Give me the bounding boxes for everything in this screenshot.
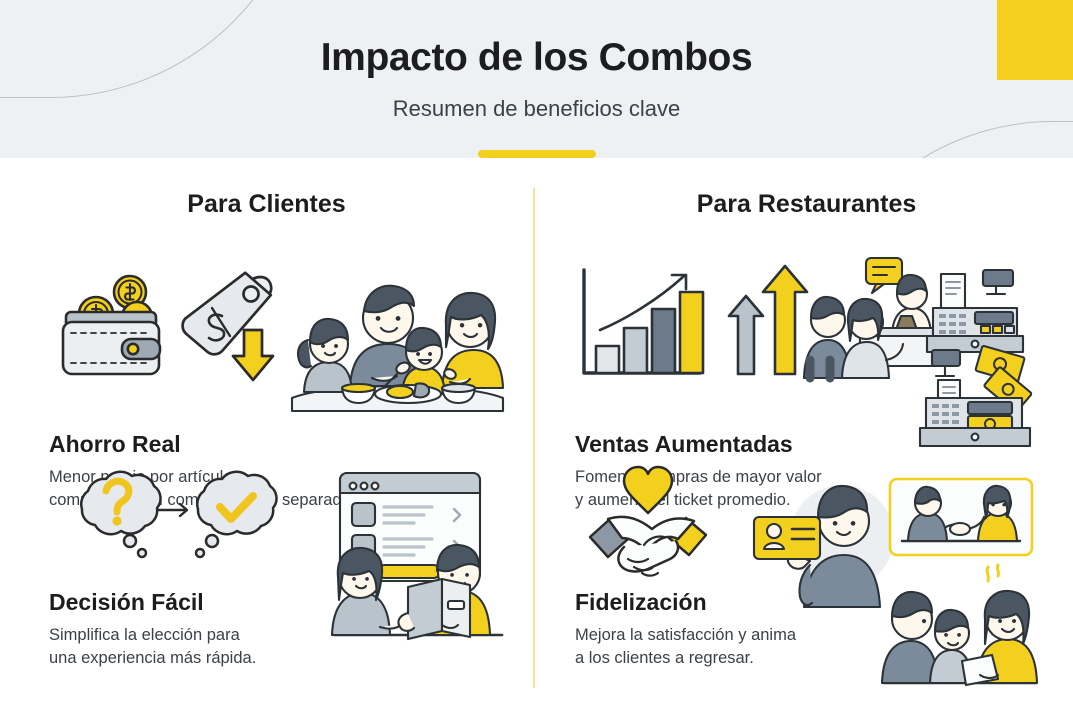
page-subtitle: Resumen de beneficios clave — [0, 96, 1073, 122]
handshake-frame-illustration — [888, 477, 1038, 559]
benefit-title-ventas-aumentadas: Ventas Aumentadas — [575, 431, 793, 458]
column-clientes: Para Clientes — [0, 158, 533, 720]
up-arrows-icon — [723, 260, 808, 380]
benefit-block-decision-facil: Decisión Fácil Simplifica la elección pa… — [0, 463, 533, 703]
column-heading-clientes: Para Clientes — [0, 190, 533, 219]
column-restaurantes: Para Restaurantes — [540, 158, 1073, 720]
page-title: Impacto de los Combos — [0, 36, 1073, 80]
benefit-block-ventas-aumentadas: Ventas Aumentadas Fomenta compras de may… — [540, 226, 1073, 451]
cash-register-money-icon — [918, 344, 1036, 454]
question-thought-bubble-icon — [52, 463, 272, 563]
benefit-block-fidelizacion: Fidelización Mejora la satisfacción y an… — [540, 463, 1073, 703]
family-dining-illustration — [290, 266, 505, 411]
title-accent-underline — [478, 150, 596, 158]
benefit-block-ahorro-real: Ahorro Real Menor precio por artículo co… — [0, 226, 533, 451]
happy-customers-illustration — [880, 563, 1040, 693]
growth-bar-chart-icon — [572, 262, 707, 382]
benefit-title-decision-facil: Decisión Fácil — [49, 589, 204, 616]
column-divider — [533, 188, 535, 688]
handshake-heart-icon — [576, 475, 721, 585]
menu-browser-illustration — [322, 465, 512, 655]
content-area: Para Clientes — [0, 158, 1073, 720]
header: Impacto de los Combos Resumen de benefic… — [0, 0, 1073, 158]
benefit-description-fidelizacion: Mejora la satisfacción y anima a los cli… — [575, 624, 796, 671]
benefit-title-ahorro-real: Ahorro Real — [49, 431, 181, 458]
price-tag-down-arrow-icon — [174, 258, 289, 388]
column-heading-restaurantes: Para Restaurantes — [540, 190, 1073, 219]
benefit-description-decision-facil: Simplifica la elección para una experien… — [49, 624, 256, 671]
benefit-title-fidelizacion: Fidelización — [575, 589, 707, 616]
wallet-coins-icon — [52, 262, 172, 382]
infographic-page: Impacto de los Combos Resumen de benefic… — [0, 0, 1073, 720]
